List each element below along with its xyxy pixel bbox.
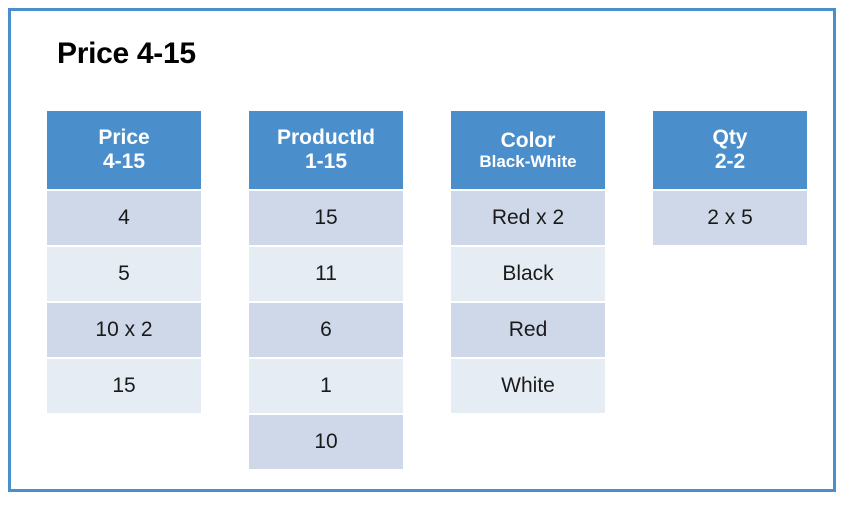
table-cell[interactable]: 15 [249, 191, 403, 245]
column-header-subtitle: 4-15 [103, 150, 145, 174]
table-cell[interactable]: Black [451, 247, 605, 301]
column-header-subtitle: Black-White [479, 152, 576, 171]
column-header[interactable]: Qty2-2 [653, 111, 807, 189]
column-header-subtitle: 1-15 [305, 150, 347, 174]
table-cell[interactable]: Red [451, 303, 605, 357]
data-column: Price4-154510 x 215 [47, 111, 201, 413]
table-cell[interactable]: Red x 2 [451, 191, 605, 245]
column-group: Price4-154510 x 215ProductId1-1515116110… [47, 111, 837, 469]
table-cell[interactable]: 1 [249, 359, 403, 413]
slide-frame: Price 4-15 Price4-154510 x 215ProductId1… [8, 8, 836, 492]
data-column: ColorBlack-WhiteRed x 2BlackRedWhite [451, 111, 605, 413]
table-cell[interactable]: 11 [249, 247, 403, 301]
table-cell[interactable]: 15 [47, 359, 201, 413]
page-title: Price 4-15 [57, 37, 196, 71]
column-header-title: Color [501, 129, 556, 153]
column-header[interactable]: Price4-15 [47, 111, 201, 189]
table-cell[interactable]: 4 [47, 191, 201, 245]
table-cell[interactable]: 6 [249, 303, 403, 357]
data-column: Qty2-22 x 5 [653, 111, 807, 245]
table-cell[interactable]: 2 x 5 [653, 191, 807, 245]
data-column: ProductId1-1515116110 [249, 111, 403, 469]
column-header-title: ProductId [277, 126, 375, 150]
table-cell[interactable]: 5 [47, 247, 201, 301]
table-cell[interactable]: White [451, 359, 605, 413]
column-header[interactable]: ProductId1-15 [249, 111, 403, 189]
column-header-title: Qty [712, 126, 747, 150]
slide-canvas: Price 4-15 Price4-154510 x 215ProductId1… [0, 0, 850, 508]
column-header-subtitle: 2-2 [715, 150, 745, 174]
column-header-title: Price [98, 126, 149, 150]
column-header[interactable]: ColorBlack-White [451, 111, 605, 189]
table-cell[interactable]: 10 [249, 415, 403, 469]
table-cell[interactable]: 10 x 2 [47, 303, 201, 357]
